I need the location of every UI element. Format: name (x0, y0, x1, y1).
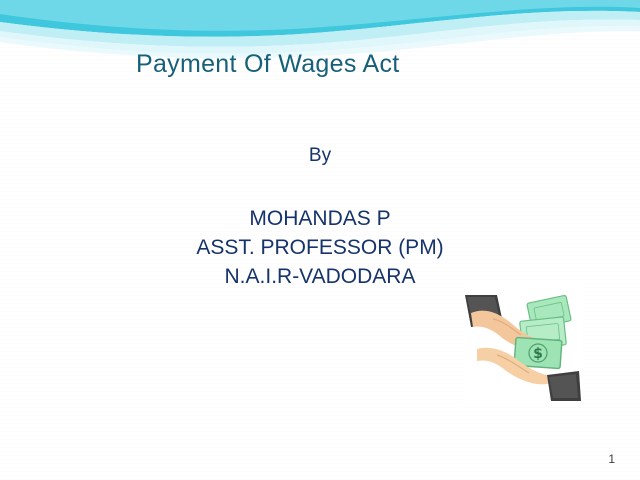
author-block: MOHANDAS P ASST. PROFESSOR (PM) N.A.I.R-… (0, 204, 640, 291)
page-title: Payment Of Wages Act (136, 50, 400, 79)
slide-number: 1 (608, 452, 615, 466)
hand-holding-money-image: $ (463, 283, 583, 404)
byline-label: By (0, 145, 640, 167)
presentation-slide: Payment Of Wages Act By MOHANDAS P ASST.… (0, 0, 640, 480)
money-in-hands-illustration: $ (463, 283, 583, 404)
svg-text:$: $ (533, 346, 543, 362)
author-designation: ASST. PROFESSOR (PM) (0, 233, 640, 262)
author-name: MOHANDAS P (0, 204, 640, 233)
